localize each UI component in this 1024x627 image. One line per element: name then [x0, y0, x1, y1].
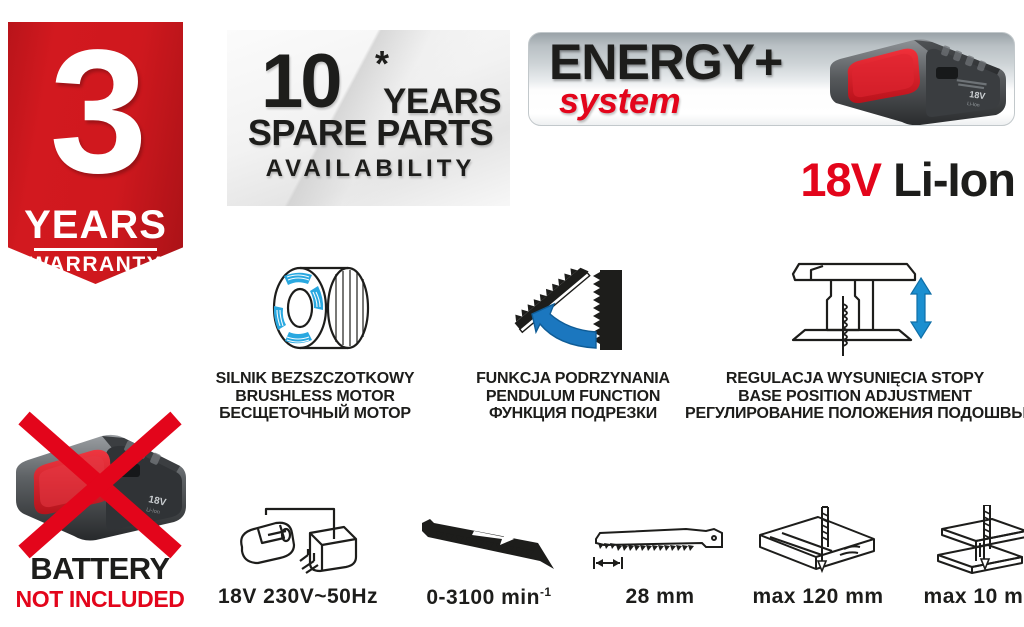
feature-row: SILNIK BEZSZCZOTKOWY BRUSHLESS MOTOR БЕС…	[190, 252, 1024, 432]
spec-row: 18V 230V~50Hz 0-3100 min-1	[198, 505, 1024, 625]
wood-cut-depth-icon	[748, 505, 888, 577]
voltage-chemistry-tag: 18V Li-Ion	[700, 156, 1015, 203]
spare-parts-years-number: 10	[261, 44, 340, 120]
warranty-badge: 3 YEARS WARRANTY	[8, 22, 183, 284]
saw-blade-speed-icon	[414, 505, 564, 577]
battery-not-included-notice: 18V Li-Ion BATTERY NOT INCLUDED	[0, 404, 200, 627]
spec-metal-cut-depth: max 10 mm	[898, 505, 1024, 609]
spec-stroke-length: 28 mm	[580, 505, 740, 609]
warranty-years-number: 3	[8, 24, 183, 200]
feature-base-position-line-pl: REGULACJA WYSUNIĘCIA STOPY	[685, 370, 1024, 388]
energy-plus-subtitle: system	[559, 83, 680, 119]
metal-cut-depth-icon	[918, 505, 1024, 577]
warranty-divider	[34, 248, 157, 251]
feature-base-position-adjustment: REGULACJA WYSUNIĘCIA STOPY BASE POSITION…	[685, 252, 1024, 423]
stroke-length-icon	[590, 505, 730, 577]
base-position-adjustment-icon	[775, 252, 935, 362]
feature-pendulum-function-line-pl: FUNKCJA PODRZYNANIA	[448, 370, 698, 388]
battery-notice-title: BATTERY	[0, 553, 200, 584]
feature-pendulum-function: FUNKCJA PODRZYNANIA PENDULUM FUNCTION ФУ…	[448, 252, 698, 423]
spec-wood-cut-depth-value: max 120 mm	[728, 585, 908, 609]
spare-parts-panel: 10 * YEARS SPARE PARTS AVAILABILITY	[227, 30, 510, 206]
feature-brushless-motor-line-en: BRUSHLESS MOTOR	[190, 388, 440, 406]
spare-parts-line3: AVAILABILITY	[243, 157, 498, 181]
product-feature-sheet: 3 YEARS WARRANTY 10 * YEARS SPARE PARTS …	[0, 0, 1024, 627]
voltage-label: 18V	[800, 153, 881, 206]
energy-plus-banner: ENERGY+ system	[528, 32, 1015, 126]
feature-brushless-motor-line-pl: SILNIK BEZSZCZOTKOWY	[190, 370, 440, 388]
spec-wood-cut-depth: max 120 mm	[728, 505, 908, 609]
spec-stroke-rate: 0-3100 min-1	[400, 505, 578, 610]
spec-charger-value: 18V 230V~50Hz	[198, 585, 398, 609]
battery-pack-image: 18V Li-Ion	[818, 35, 1008, 126]
battery-notice-subtitle: NOT INCLUDED	[0, 588, 200, 611]
spec-stroke-length-value: 28 mm	[580, 585, 740, 609]
spare-parts-line2: SPARE PARTS	[243, 115, 498, 151]
spec-stroke-rate-unit-exp: -1	[540, 585, 552, 599]
spec-stroke-rate-value: 0-3100 min-1	[400, 585, 578, 610]
spec-stroke-rate-number: 0-3100 min	[426, 586, 540, 609]
feature-brushless-motor: SILNIK BEZSZCZOTKOWY BRUSHLESS MOTOR БЕС…	[190, 252, 440, 423]
cross-out-icon	[12, 410, 187, 560]
feature-base-position-line-ru: РЕГУЛИРОВАНИЕ ПОЛОЖЕНИЯ ПОДОШВЫ	[685, 405, 1024, 423]
spare-parts-asterisk: *	[375, 46, 389, 82]
warranty-label: WARRANTY	[8, 253, 183, 277]
chemistry-label: Li-Ion	[893, 153, 1015, 206]
warranty-years-label: YEARS	[8, 205, 183, 245]
feature-pendulum-function-line-ru: ФУНКЦИЯ ПОДРЕЗКИ	[448, 405, 698, 423]
feature-pendulum-function-line-en: PENDULUM FUNCTION	[448, 388, 698, 406]
feature-base-position-line-en: BASE POSITION ADJUSTMENT	[685, 388, 1024, 406]
feature-brushless-motor-line-ru: БЕСЩЕТОЧНЫЙ МОТОР	[190, 405, 440, 423]
spec-charger: 18V 230V~50Hz	[198, 505, 398, 609]
pendulum-function-icon	[488, 252, 658, 362]
charger-icon	[228, 505, 368, 577]
brushless-motor-icon	[240, 254, 390, 362]
spec-metal-cut-depth-value: max 10 mm	[898, 585, 1024, 609]
